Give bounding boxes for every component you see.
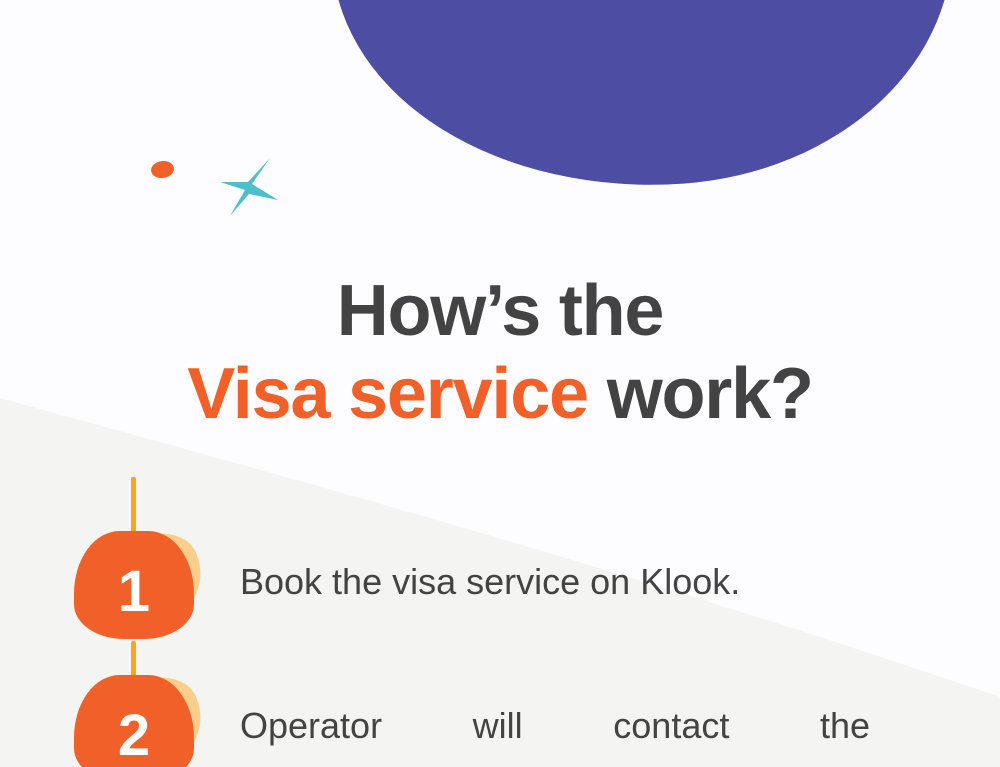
steps-list: 1 Book the visa service on Klook. 2 Oper… [0,0,1000,767]
step-description: Book the visa service on Klook. [240,559,870,606]
step-description: Operator will contact the [240,703,870,750]
step-number: 2 [74,675,194,767]
step-number: 1 [74,531,194,639]
poster-canvas: How’s the Visa service work? 1 Book the … [0,0,1000,767]
step-badge: 1 [68,523,214,643]
step-badge: 2 [68,667,214,767]
